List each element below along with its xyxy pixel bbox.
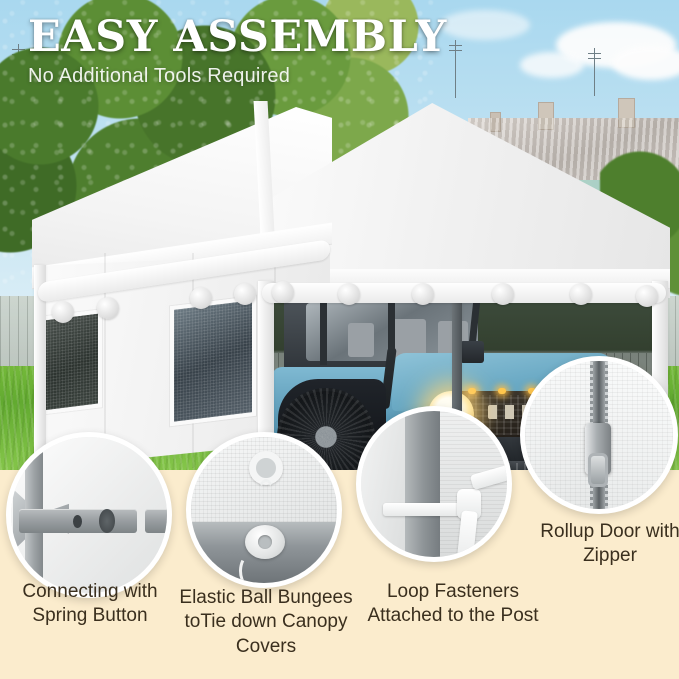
feature-callout-ball-bungee	[186, 432, 342, 588]
marker-light	[468, 388, 476, 394]
caption-loop-fastener: Loop Fasteners Attached to the Post	[358, 580, 548, 629]
seat	[348, 323, 374, 357]
side-mirror	[460, 341, 484, 363]
pillar	[320, 299, 327, 365]
roll-strap-knob	[636, 285, 658, 307]
page-title: EASY ASSEMBLY	[28, 16, 447, 59]
mesh-window	[170, 296, 256, 427]
roll-strap-knob	[412, 283, 434, 305]
roll-strap-knob	[234, 283, 256, 305]
roll-strap-knob	[52, 301, 74, 323]
product-feature-image: EASY ASSEMBLY No Additional Tools Requir…	[0, 0, 679, 679]
roll-strap-knob	[338, 283, 360, 305]
headline-block: EASY ASSEMBLY No Additional Tools Requir…	[28, 16, 447, 88]
frame-post	[452, 295, 462, 415]
zipper-pull-tab	[588, 453, 608, 487]
mating-tube	[145, 509, 172, 533]
feature-callout-rollup-zipper	[520, 356, 678, 514]
page-subtitle: No Additional Tools Required	[28, 65, 447, 88]
spring-button-hole	[73, 515, 82, 528]
feature-callout-loop-fastener	[356, 406, 512, 562]
mesh-window	[40, 309, 102, 415]
cloud	[440, 10, 530, 40]
side-panel-fabric	[361, 411, 405, 557]
caption-spring-button: Connecting with Spring Button	[2, 580, 178, 629]
roll-strap-knob	[190, 287, 212, 309]
upright-post	[405, 411, 440, 557]
feature-callout-spring-button	[6, 432, 172, 598]
roll-strap-knob	[97, 297, 119, 319]
tube-opening	[99, 509, 115, 533]
marker-light	[498, 388, 506, 394]
roll-strap-knob	[492, 283, 514, 305]
caption-ball-bungee: Elastic Ball Bungees toTie down Canopy C…	[176, 586, 356, 659]
roll-strap-knob	[272, 281, 294, 303]
roll-strap-knob	[570, 283, 592, 305]
caption-rollup-zipper: Rollup Door with Zipper	[540, 520, 679, 569]
door-fabric-right	[602, 361, 673, 509]
rolled-door-bar	[262, 283, 666, 303]
